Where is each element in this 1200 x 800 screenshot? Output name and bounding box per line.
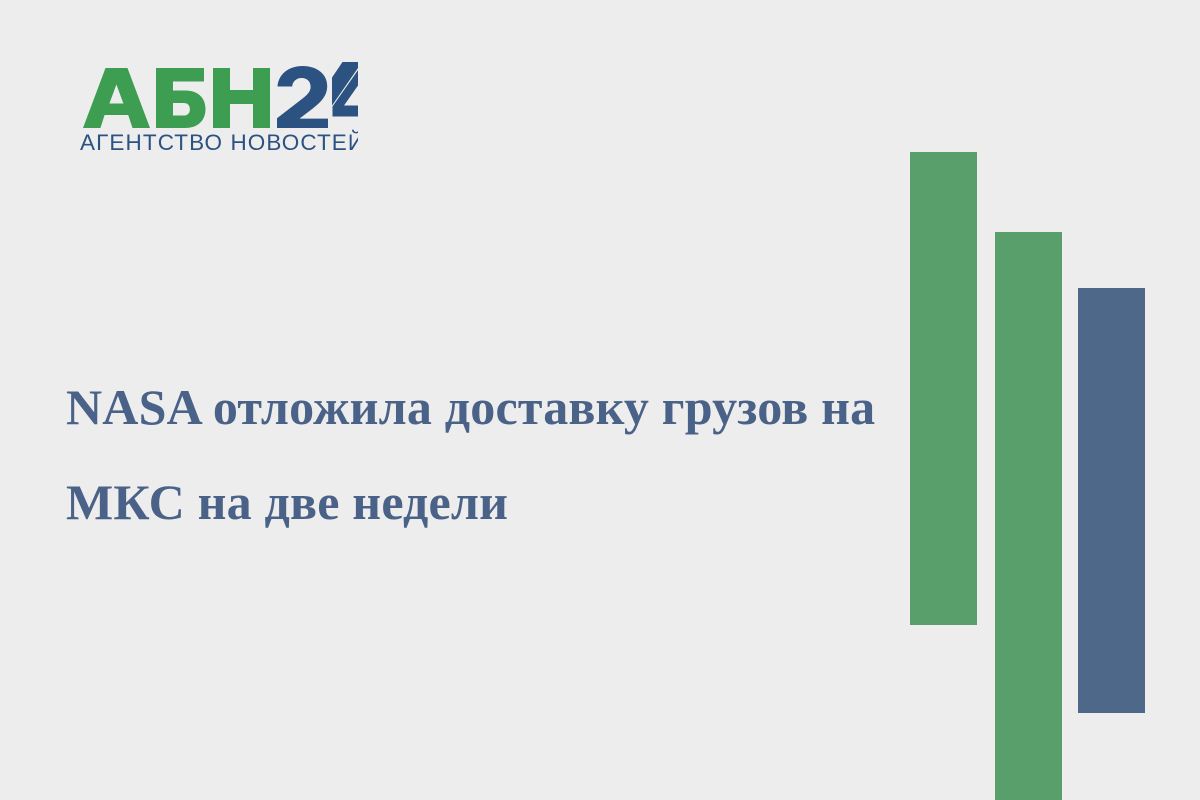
decorative-bar-2 xyxy=(995,232,1062,800)
logo-tagline-text: АГЕНТСТВО НОВОСТЕЙ xyxy=(80,130,358,154)
decorative-bar-3 xyxy=(1078,288,1145,713)
decorative-bar-1 xyxy=(910,152,977,625)
abn24-logo-icon: АГЕНТСТВО НОВОСТЕЙ xyxy=(80,62,358,154)
headline: NASA отложила доставку грузов на МКС на … xyxy=(66,360,876,550)
news-card: АГЕНТСТВО НОВОСТЕЙ АБН24 АГЕНТСТВО НОВОС… xyxy=(0,0,1200,800)
logo[interactable]: АГЕНТСТВО НОВОСТЕЙ АБН24 АГЕНТСТВО НОВОС… xyxy=(80,62,380,154)
